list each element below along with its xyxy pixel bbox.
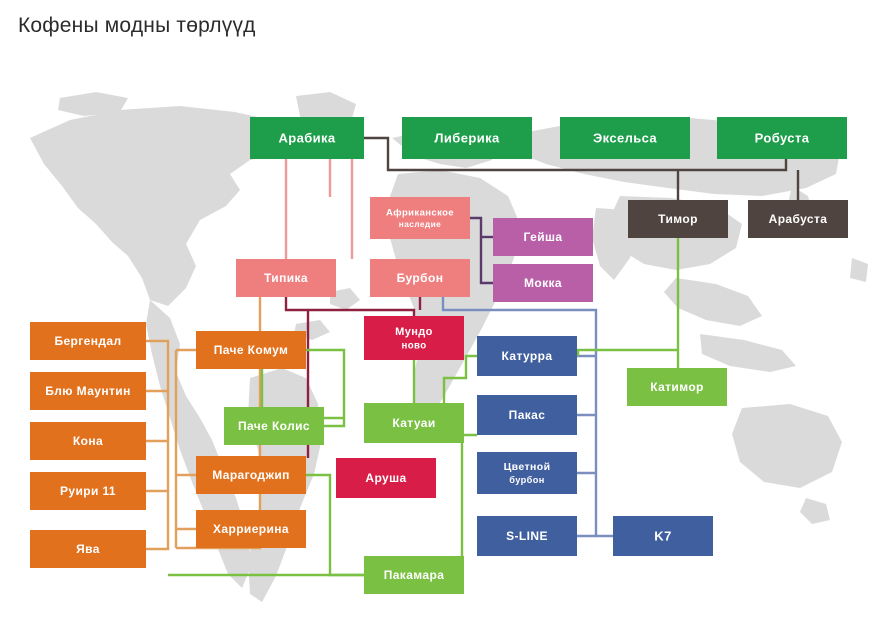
node-label: бурбон xyxy=(509,475,545,485)
node-label: Бурбон xyxy=(397,271,444,285)
node-label: S-LINE xyxy=(506,529,548,543)
node-label: Катуаи xyxy=(392,416,435,430)
node-label: Тимор xyxy=(658,212,698,226)
node-timor[interactable]: Тимор xyxy=(628,200,728,238)
node-label: Мундо xyxy=(395,326,433,338)
node-tsvetnoy[interactable]: Цветнойбурбон xyxy=(477,452,577,494)
node-label: Гейша xyxy=(524,230,563,244)
node-bergendal[interactable]: Бергендал xyxy=(30,322,146,360)
node-arabusta[interactable]: Арабуста xyxy=(748,200,848,238)
node-label: Паче Комум xyxy=(214,343,289,357)
node-label: Либерика xyxy=(434,130,500,145)
node-label: Типика xyxy=(264,271,308,285)
node-label: Паче Колис xyxy=(238,419,310,433)
node-pakas[interactable]: Пакас xyxy=(477,395,577,435)
node-pakamara[interactable]: Пакамара xyxy=(364,556,464,594)
node-bluemount[interactable]: Блю Маунтин xyxy=(30,372,146,410)
node-label: Блю Маунтин xyxy=(45,384,130,398)
node-african[interactable]: Африканскоенаследие xyxy=(370,197,470,239)
node-label: Африканское xyxy=(386,208,454,219)
node-label: Робуста xyxy=(755,130,810,145)
node-k7[interactable]: K7 xyxy=(613,516,713,556)
node-label: ново xyxy=(401,340,426,351)
node-label: Катимор xyxy=(650,380,704,394)
node-liberika[interactable]: Либерика xyxy=(402,117,532,159)
node-label: наследие xyxy=(399,219,441,229)
node-label: Пакас xyxy=(509,408,546,422)
node-burbon[interactable]: Бурбон xyxy=(370,259,470,297)
node-robusta[interactable]: Робуста xyxy=(717,117,847,159)
node-label: Катурра xyxy=(502,349,553,363)
node-label: Аруша xyxy=(365,471,406,485)
node-yava[interactable]: Ява xyxy=(30,530,146,568)
node-katuai[interactable]: Катуаи xyxy=(364,403,464,443)
diagram-canvas: АрабикаЛиберикаЭксельсаРобустаТиморАрабу… xyxy=(0,78,872,620)
connector-arabika-descendants xyxy=(286,159,352,259)
node-excelsa[interactable]: Эксельса xyxy=(560,117,690,159)
node-pachekomum[interactable]: Паче Комум xyxy=(196,331,306,369)
node-label: Мокка xyxy=(524,276,562,290)
node-kona[interactable]: Кона xyxy=(30,422,146,460)
node-label: Харриерина xyxy=(213,522,289,536)
node-maragojip[interactable]: Марагоджип xyxy=(196,456,306,494)
node-pachekolis[interactable]: Паче Колис xyxy=(224,407,324,445)
node-label: Арабика xyxy=(278,130,335,145)
node-label: K7 xyxy=(654,528,671,543)
node-arabika[interactable]: Арабика xyxy=(250,117,364,159)
node-label: Эксельса xyxy=(593,130,657,145)
node-sline[interactable]: S-LINE xyxy=(477,516,577,556)
node-tipika[interactable]: Типика xyxy=(236,259,336,297)
node-mundo[interactable]: Мундоново xyxy=(364,316,464,360)
node-katurra[interactable]: Катурра xyxy=(477,336,577,376)
node-label: Цветной xyxy=(504,461,551,473)
node-mokka[interactable]: Мокка xyxy=(493,264,593,302)
node-label: Ява xyxy=(76,542,100,556)
node-ruiri11[interactable]: Руири 11 xyxy=(30,472,146,510)
node-label: Кона xyxy=(73,434,103,448)
node-katimor[interactable]: Катимор xyxy=(627,368,727,406)
node-kharrierina[interactable]: Харриерина xyxy=(196,510,306,548)
coffee-varieties-diagram: АрабикаЛиберикаЭксельсаРобустаТиморАрабу… xyxy=(0,78,872,620)
node-label: Пакамара xyxy=(384,568,445,582)
node-arusha[interactable]: Аруша xyxy=(336,458,436,498)
node-label: Руири 11 xyxy=(60,484,116,498)
page-title: Кофены модны төрлүүд xyxy=(18,14,256,38)
node-label: Марагоджип xyxy=(212,468,290,482)
node-geisha[interactable]: Гейша xyxy=(493,218,593,256)
node-label: Арабуста xyxy=(769,212,828,226)
node-label: Бергендал xyxy=(54,334,121,348)
